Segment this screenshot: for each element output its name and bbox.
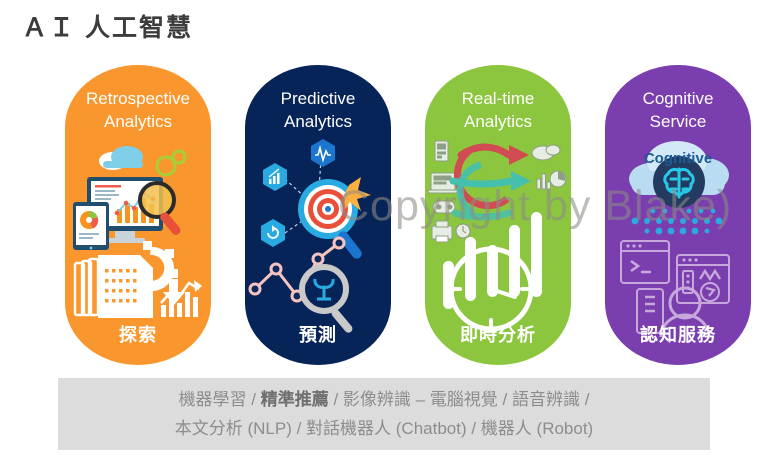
caption-part-bold: 精準推薦: [261, 390, 329, 409]
dashboard-window-icon: [677, 255, 729, 303]
hexagon-pulse-icon: [311, 139, 335, 167]
pie-chart-icon: [79, 211, 99, 239]
bar-chart-icon: [161, 280, 202, 317]
caption-line-2: 本文分析 (NLP) / 對話機器人 (Chatbot) / 機器人 (Robo…: [175, 414, 593, 443]
cloud-label: Cognitive: [605, 150, 751, 167]
clock-small-icon: [456, 224, 470, 238]
caption-part: /: [580, 390, 589, 409]
cloud-icon: [99, 146, 143, 170]
cloud-icon: [532, 145, 560, 160]
server-icon: [435, 141, 448, 161]
card-art-predictive: [245, 137, 391, 337]
bar-chart-icon: [537, 174, 551, 189]
card-art-retrospective: [65, 137, 211, 337]
gamepad-icon: [433, 201, 455, 213]
card-footer-label: 即時分析: [425, 321, 571, 347]
card-footer-label: 預測: [245, 321, 391, 347]
pie-chart-icon: [550, 171, 566, 187]
card-title: Cognitive Service: [605, 87, 751, 133]
slide-canvas: ＡＩ 人工智慧 Retrospective Analytics: [0, 0, 768, 460]
card-title: Retrospective Analytics: [65, 87, 211, 133]
caption-part: 影像辨識 – 電腦視覺: [343, 390, 498, 409]
card-art-cognitive: [605, 137, 751, 337]
caption-part: 機器學習 /: [179, 390, 261, 409]
card-predictive-analytics[interactable]: Predictive Analytics: [245, 65, 391, 365]
card-art-realtime: [425, 137, 571, 337]
gear-icon: [157, 151, 185, 175]
card-retrospective-analytics[interactable]: Retrospective Analytics: [65, 65, 211, 365]
hexagon-refresh-icon: [261, 219, 285, 247]
hexagon-chart-icon: [263, 163, 287, 191]
card-title: Predictive Analytics: [245, 87, 391, 133]
page-title: ＡＩ 人工智慧: [22, 8, 193, 44]
dotted-connector-icon: [632, 209, 723, 235]
caption-part: /: [498, 390, 512, 409]
card-title: Real-time Analytics: [425, 87, 571, 133]
printer-icon: [432, 221, 452, 242]
card-realtime-analytics[interactable]: Real-time Analytics: [425, 65, 571, 365]
caption-line-1: 機器學習 / 精準推薦 / 影像辨識 – 電腦視覺 / 語音辨識 /: [179, 385, 590, 414]
card-footer-label: 認知服務: [605, 321, 751, 347]
card-footer-label: 探索: [65, 321, 211, 347]
terminal-window-icon: [621, 241, 669, 283]
caption-bar: 機器學習 / 精準推薦 / 影像辨識 – 電腦視覺 / 語音辨識 / 本文分析 …: [58, 378, 710, 450]
card-cognitive-service[interactable]: Cognitive Service: [605, 65, 751, 365]
caption-part: 語音辨識: [512, 390, 580, 409]
caption-part: /: [329, 390, 343, 409]
